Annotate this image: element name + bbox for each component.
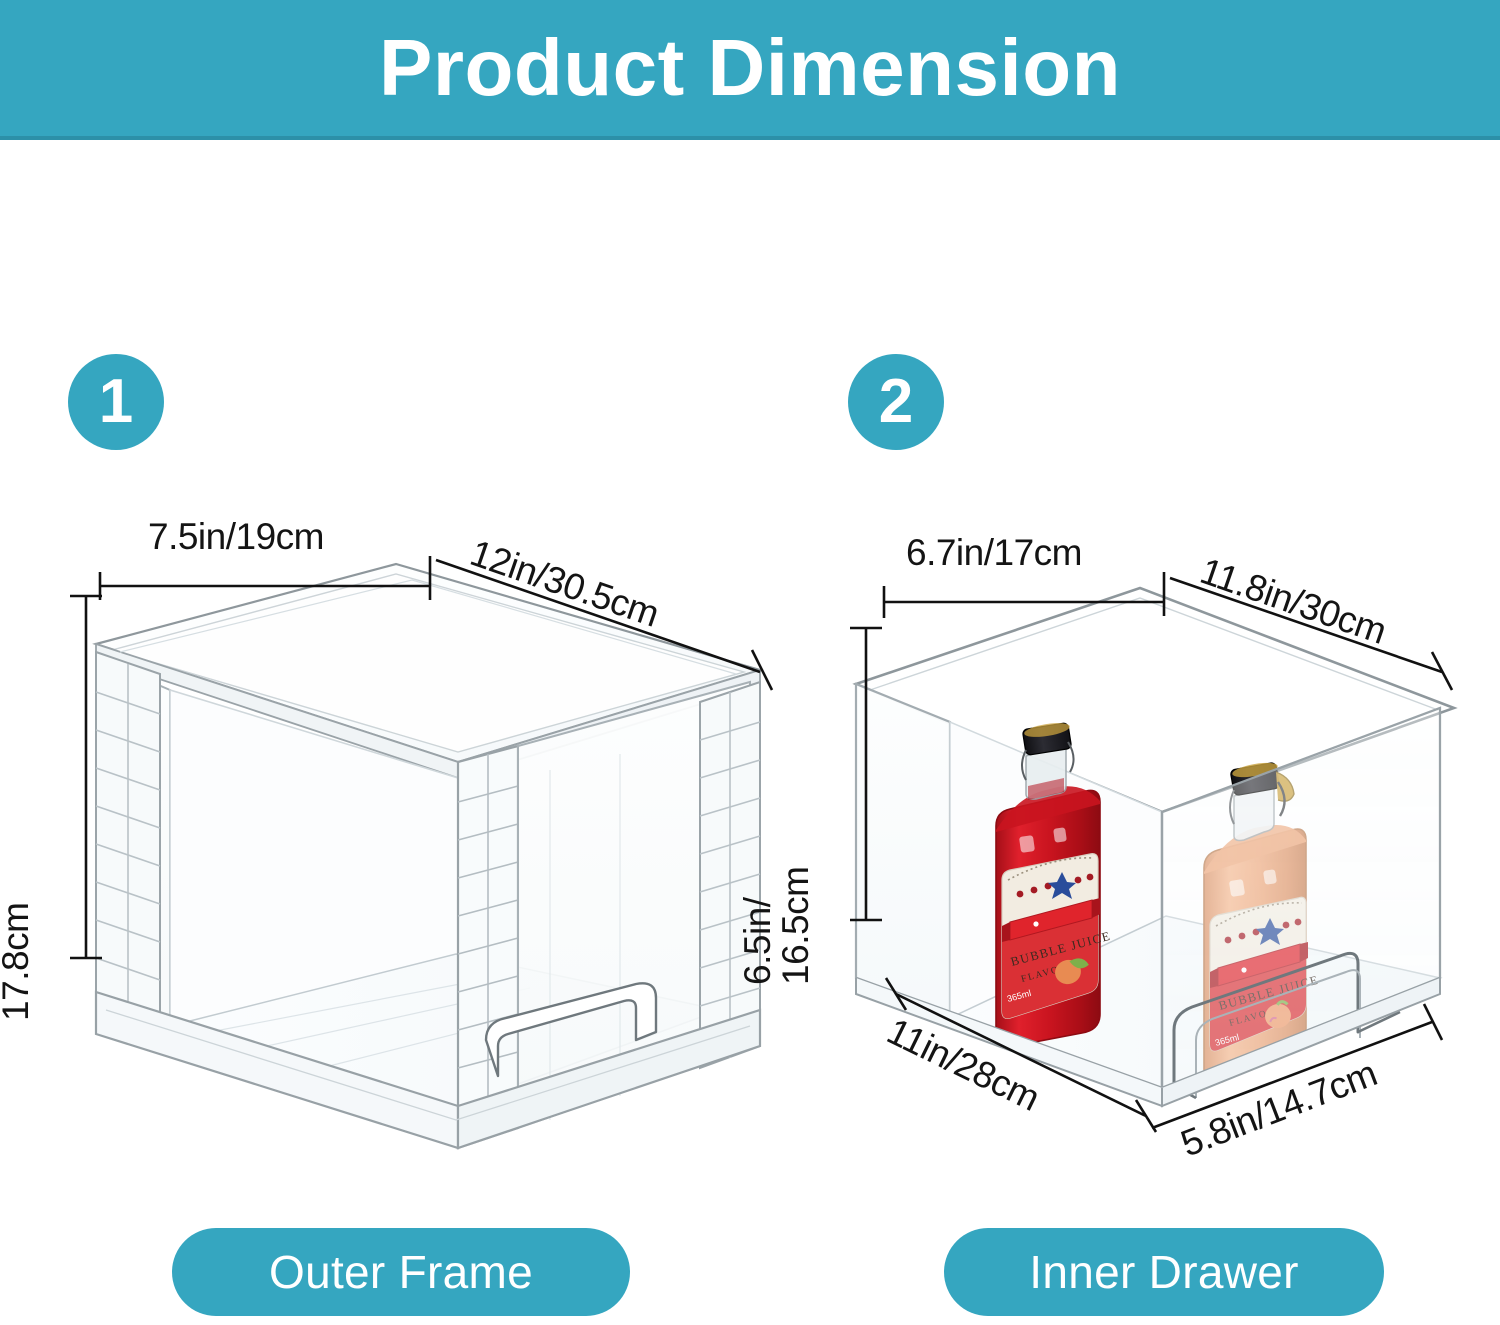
infographic-page: Product Dimension 1 2 (0, 0, 1500, 1325)
caption-inner-drawer-label: Inner Drawer (1029, 1245, 1298, 1299)
dim-label-inner-height-line1: 6.5in/ (737, 897, 778, 985)
inner-drawer-left-wall (856, 684, 950, 1018)
dim-label-outer-width: 7.5in/19cm (148, 518, 324, 556)
caption-outer-frame: Outer Frame (172, 1228, 630, 1316)
dim-label-outer-height-line2: 17.8cm (0, 903, 37, 1021)
dim-label-inner-height-line2: 16.5cm (776, 867, 817, 985)
dim-label-outer-height: 7in/ 17.8cm (0, 701, 36, 1021)
step-badge-1: 1 (68, 354, 164, 450)
caption-outer-frame-label: Outer Frame (269, 1245, 533, 1299)
outer-frame-ribbed-post-center (458, 746, 518, 1148)
step-badge-2: 2 (848, 354, 944, 450)
outer-frame-illustration (60, 540, 800, 1180)
step-badge-1-number: 1 (99, 371, 133, 433)
outer-frame-ribbed-post-left (96, 652, 160, 1040)
step-badge-2-number: 2 (879, 371, 913, 433)
header-banner: Product Dimension (0, 0, 1500, 140)
dim-label-inner-height: 6.5in/ 16.5cm (739, 685, 816, 985)
dim-label-inner-width: 6.7in/17cm (906, 534, 1082, 572)
inner-drawer-illustration: BUBBLE JUICE FLAVOR 365ml (840, 580, 1480, 1180)
page-title: Product Dimension (379, 28, 1121, 108)
inner-drawer-right-wall (1162, 708, 1440, 1088)
caption-inner-drawer: Inner Drawer (944, 1228, 1384, 1316)
